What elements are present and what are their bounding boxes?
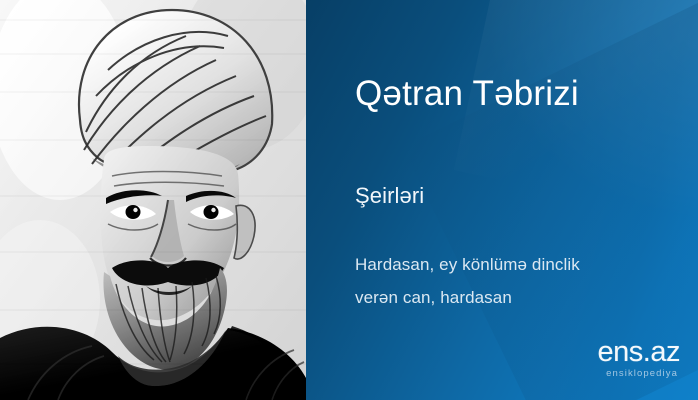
portrait-image [0, 0, 306, 400]
page-subtitle: Şeirləri [355, 182, 424, 210]
info-panel: Qətran Təbrizi Şeirləri Hardasan, ey kön… [306, 0, 698, 400]
logo-tagline: ensiklopediya [598, 369, 678, 379]
poem-excerpt: Hardasan, ey könlümə dinclik verən can, … [355, 248, 685, 314]
panel-content: Qətran Təbrizi Şeirləri Hardasan, ey kön… [306, 0, 698, 400]
page-title: Qətran Təbrizi [355, 73, 579, 115]
logo-wordmark: ens.az [598, 338, 680, 367]
poem-excerpt-line: verən can, hardasan [355, 281, 685, 314]
portrait-illustration [0, 0, 306, 400]
poem-excerpt-line: Hardasan, ey könlümə dinclik [355, 248, 685, 281]
ensaz-logo[interactable]: ens.az ensiklopediya [598, 338, 680, 379]
poem-card: Qətran Təbrizi Şeirləri Hardasan, ey kön… [0, 0, 698, 400]
